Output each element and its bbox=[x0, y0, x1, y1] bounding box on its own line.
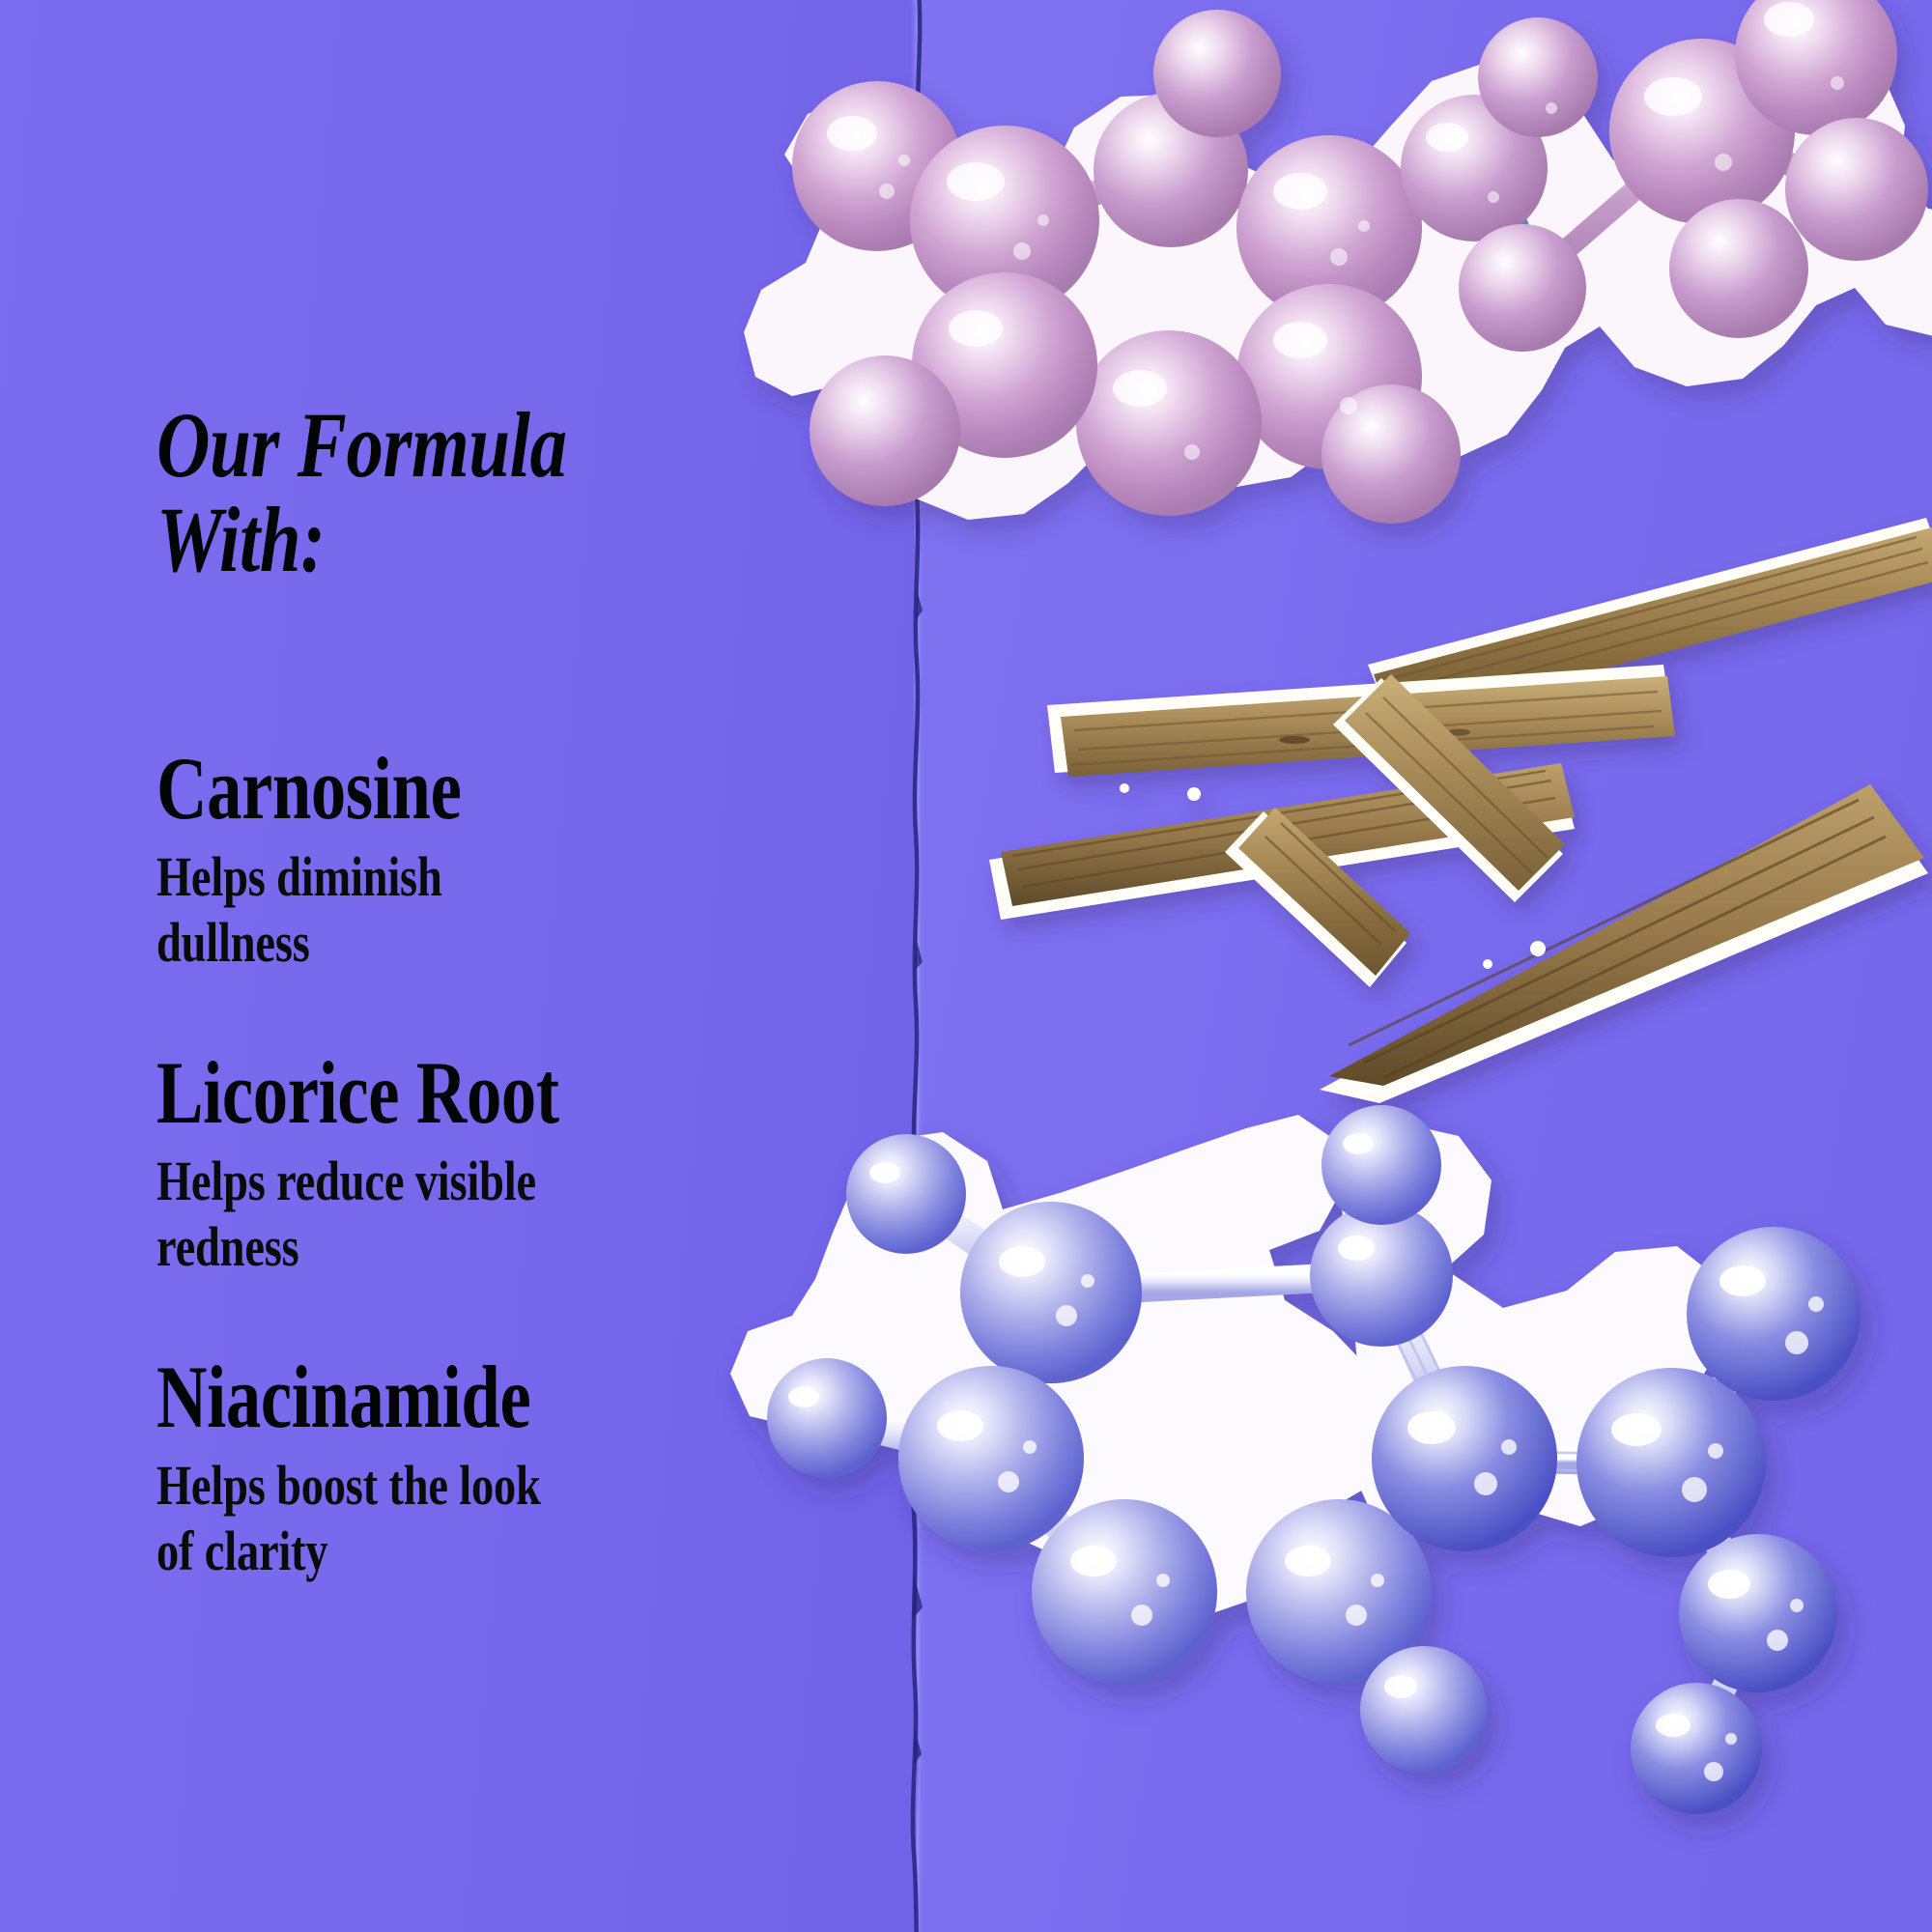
ingredient-name: Carnosine bbox=[156, 744, 645, 833]
blue-molecule-collage-icon bbox=[744, 1072, 1932, 1932]
ingredient-description: Helps diminish dullness bbox=[156, 844, 775, 976]
ingredient-name: Niacinamide bbox=[156, 1352, 645, 1441]
ingredient-description: Helps reduce visible redness bbox=[156, 1149, 775, 1280]
ingredient-name: Licorice Root bbox=[156, 1048, 645, 1137]
licorice-root-sticks-icon bbox=[1005, 551, 1932, 1092]
ingredient-carnosine: Carnosine Helps diminish dullness bbox=[156, 744, 775, 976]
pink-molecule-collage-icon bbox=[715, 0, 1932, 638]
ingredient-niacinamide: Niacinamide Helps boost the look of clar… bbox=[156, 1352, 775, 1584]
ingredient-description: Helps boost the look of clarity bbox=[156, 1453, 775, 1584]
ingredient-licorice-root: Licorice Root Helps reduce visible redne… bbox=[156, 1048, 775, 1280]
formula-infographic: Our Formula With: Carnosine Helps dimini… bbox=[0, 0, 1932, 1932]
page-title: Our Formula With: bbox=[156, 398, 636, 587]
text-column: Our Formula With: Carnosine Helps dimini… bbox=[156, 0, 794, 1932]
